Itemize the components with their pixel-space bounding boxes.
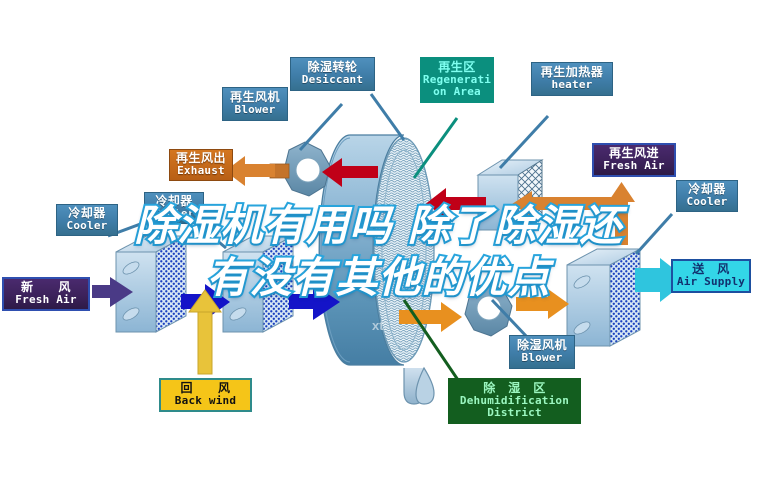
regen-blower-unit [270, 142, 330, 196]
label-cooler-left-front: 冷却器 Cooler [56, 204, 118, 236]
label-back-wind: 回 风 Back wind [159, 378, 252, 412]
label-dehum-blower: 除湿风机 Blower [509, 335, 575, 369]
label-regen-area: 再生区 Regenerati on Area [420, 57, 494, 103]
label-dehum-district: 除 湿 区 Dehumidification District [448, 378, 581, 424]
watermark: xt [372, 318, 384, 333]
water-drop-icon [404, 368, 434, 404]
label-desiccant: 除湿转轮 Desiccant [290, 57, 375, 91]
label-regen-heater: 再生加热器 heater [531, 62, 613, 96]
desiccant-dehumidifier-schematic [0, 0, 757, 488]
label-exhaust: 再生风出 Exhaust [169, 149, 233, 181]
dehum-blower-unit [465, 282, 512, 336]
cooler-left-back [116, 236, 186, 332]
arrow-blower-to-supply-cooler [516, 289, 569, 319]
arrow-regen-into-rotor [426, 188, 486, 219]
label-regen-fresh-air: 再生风进 Fresh Air [592, 143, 676, 177]
label-cooler-left-back: 冷却器 Cooler [144, 192, 204, 224]
label-fresh-air: 新 风 Fresh Air [2, 277, 90, 311]
cooler-right [567, 249, 640, 346]
regen-heater-unit [478, 160, 542, 230]
label-air-supply: 送 风 Air Supply [671, 259, 751, 293]
cooler-left-front [223, 236, 293, 332]
label-cooler-right: 冷却器 Cooler [676, 180, 738, 212]
dehumidifier-diagram: xt 除湿转轮 Desiccant 再生风机 Blower 再生风出 Exhau… [0, 0, 757, 488]
label-regen-blower: 再生风机 Blower [222, 87, 288, 121]
